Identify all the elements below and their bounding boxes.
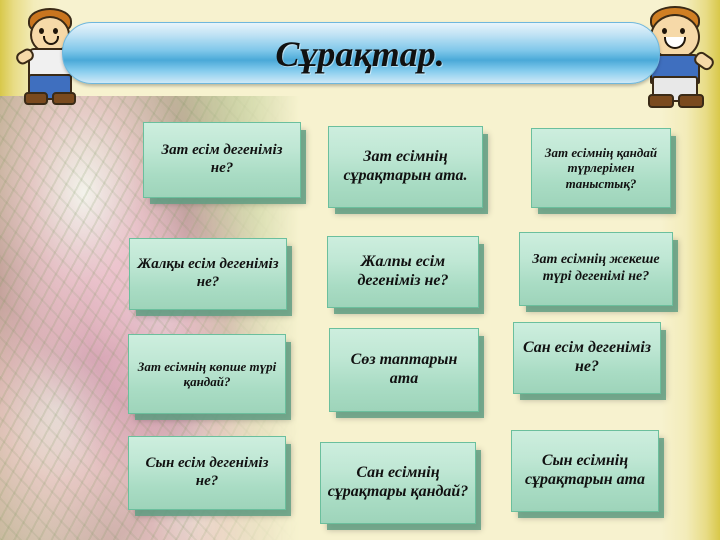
slide-canvas: Сұрақтар. Зат есім дегеніміз не? Зат есі… bbox=[0, 0, 720, 540]
question-box-12[interactable]: Сын есімнің сұрақтарын ата bbox=[511, 430, 659, 512]
page-title: Сұрақтар. bbox=[62, 26, 658, 82]
question-box-5[interactable]: Жалпы есім дегеніміз не? bbox=[327, 236, 479, 308]
question-box-3[interactable]: Зат есімнің қандай түрлерімен таныстық? bbox=[531, 128, 671, 208]
question-box-7[interactable]: Зат есімнің көпше түрі қандай? bbox=[128, 334, 286, 414]
question-box-2[interactable]: Зат есімнің сұрақтарын ата. bbox=[328, 126, 483, 208]
question-box-8[interactable]: Сөз таптарын ата bbox=[329, 328, 479, 412]
question-box-1[interactable]: Зат есім дегеніміз не? bbox=[143, 122, 301, 198]
question-box-10[interactable]: Сын есім дегеніміз не? bbox=[128, 436, 286, 510]
question-box-11[interactable]: Сан есімнің сұрақтары қандай? bbox=[320, 442, 476, 524]
question-box-6[interactable]: Зат есімнің жекеше түрі дегенімі не? bbox=[519, 232, 673, 306]
question-box-4[interactable]: Жалқы есім дегеніміз не? bbox=[129, 238, 287, 310]
question-box-9[interactable]: Сан есім дегеніміз не? bbox=[513, 322, 661, 394]
